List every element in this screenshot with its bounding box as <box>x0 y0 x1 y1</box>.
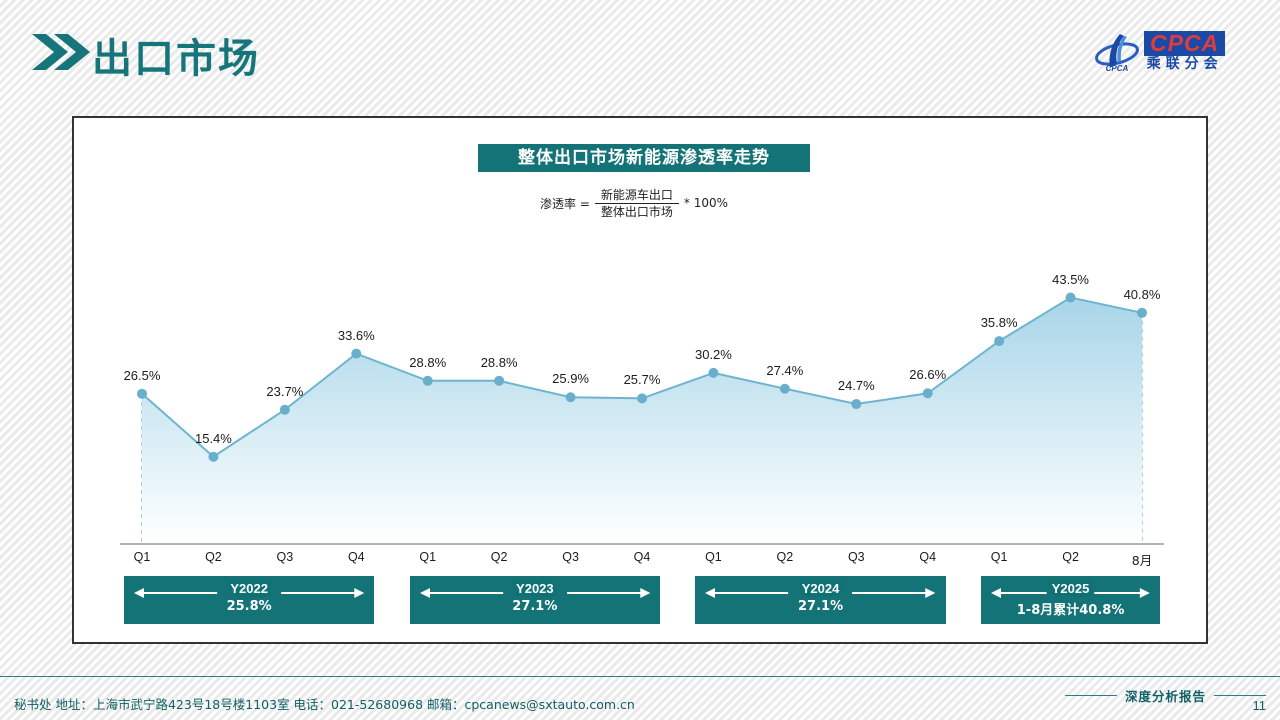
cpca-swoosh-icon: CPCA <box>1094 30 1140 74</box>
footer-report-tag-group: 深度分析报告 <box>1065 686 1266 705</box>
chart-svg <box>120 258 1164 578</box>
chart-x-tick: Q2 <box>777 550 794 564</box>
footer-line-right <box>1214 695 1266 696</box>
chart-area-fill <box>142 298 1142 545</box>
cpca-logo-text: CPCA 乘联分会 <box>1144 31 1225 73</box>
cpca-subtitle: 乘联分会 <box>1144 56 1225 73</box>
chart-x-tick: Q3 <box>848 550 865 564</box>
chart-value-label: 28.8% <box>409 355 446 370</box>
band-year-label: Y2023 <box>410 581 660 596</box>
chart-panel: 整体出口市场新能源渗透率走势 渗透率 = 新能源车出口 整体出口市场 * 100… <box>72 116 1208 644</box>
band-year-value: 25.8% <box>124 599 374 614</box>
chart-title-banner: 整体出口市场新能源渗透率走势 <box>478 144 810 172</box>
svg-text:CPCA: CPCA <box>1106 64 1129 73</box>
year-summary-band: Y20251-8月累计40.8% <box>981 576 1160 624</box>
footer-contact-info: 秘书处 地址：上海市武宁路423号18号楼1103室 电话：021-526809… <box>14 694 635 713</box>
penetration-rate-area-chart: 26.5%15.4%23.7%33.6%28.8%28.8%25.9%25.7%… <box>120 258 1164 578</box>
chart-value-label: 26.6% <box>909 367 946 382</box>
chart-value-label: 30.2% <box>695 347 732 362</box>
year-summary-band: Y202427.1% <box>695 576 945 624</box>
chart-x-tick: Q4 <box>919 550 936 564</box>
chart-data-point <box>637 393 647 403</box>
chart-value-label: 28.8% <box>481 355 518 370</box>
formula-denominator: 整体出口市场 <box>595 204 679 219</box>
chart-value-label: 27.4% <box>766 363 803 378</box>
chart-x-tick: Q1 <box>134 550 151 564</box>
penetration-rate-formula: 渗透率 = 新能源车出口 整体出口市场 * 100% <box>540 186 728 220</box>
formula-left-side: 渗透率 = <box>540 195 590 212</box>
formula-right-side: * 100% <box>684 196 728 210</box>
page-number: 11 <box>1253 698 1267 713</box>
footer-line-left <box>1065 695 1117 696</box>
chart-x-tick: Q4 <box>348 550 365 564</box>
chart-value-label: 35.8% <box>981 315 1018 330</box>
report-tag-label: 深度分析报告 <box>1125 686 1206 705</box>
chart-data-point <box>1066 293 1076 303</box>
chart-value-label: 25.9% <box>552 371 589 386</box>
band-year-label: Y2024 <box>695 581 945 596</box>
chart-value-label: 15.4% <box>195 431 232 446</box>
chart-x-tick: Q2 <box>491 550 508 564</box>
chart-data-point <box>994 336 1004 346</box>
chart-x-tick: Q1 <box>991 550 1008 564</box>
slide-header: 出口市场 CPCA CPCA 乘联分会 <box>0 0 1280 100</box>
chart-data-point <box>851 399 861 409</box>
chart-value-label: 24.7% <box>838 378 875 393</box>
chart-data-point <box>494 376 504 386</box>
chart-data-point <box>280 405 290 415</box>
chart-data-point <box>351 349 361 359</box>
chart-x-tick: 8月 <box>1132 550 1152 569</box>
chart-x-tick: Q1 <box>419 550 436 564</box>
chart-data-point <box>1137 308 1147 318</box>
formula-fraction: 新能源车出口 整体出口市场 <box>595 186 679 220</box>
chart-data-point <box>423 376 433 386</box>
chart-data-point <box>780 384 790 394</box>
band-year-label: Y2025 <box>981 581 1160 596</box>
chart-value-label: 43.5% <box>1052 272 1089 287</box>
chart-value-label: 33.6% <box>338 328 375 343</box>
band-year-label: Y2022 <box>124 581 374 596</box>
year-summary-band: Y202225.8% <box>124 576 374 624</box>
cpca-acronym: CPCA <box>1144 31 1225 56</box>
band-year-value: 27.1% <box>410 599 660 614</box>
year-summary-band: Y202327.1% <box>410 576 660 624</box>
chart-x-tick: Q4 <box>634 550 651 564</box>
chart-value-label: 26.5% <box>124 368 161 383</box>
band-year-value: 1-8月累计40.8% <box>981 599 1160 618</box>
chart-value-label: 40.8% <box>1124 287 1161 302</box>
chart-x-tick: Q1 <box>705 550 722 564</box>
footer-divider <box>0 676 1280 677</box>
chart-value-label: 23.7% <box>266 384 303 399</box>
chart-x-tick: Q2 <box>205 550 222 564</box>
chart-value-label: 25.7% <box>624 372 661 387</box>
page-title: 出口市场 <box>92 26 260 84</box>
chart-x-tick: Q3 <box>277 550 294 564</box>
chart-data-point <box>566 392 576 402</box>
formula-numerator: 新能源车出口 <box>595 188 679 204</box>
chart-data-point <box>708 368 718 378</box>
chart-x-tick: Q3 <box>562 550 579 564</box>
chart-x-tick: Q2 <box>1062 550 1079 564</box>
band-year-value: 27.1% <box>695 599 945 614</box>
slide-canvas: 出口市场 CPCA CPCA 乘联分会 整体出口市场新能源渗透率走势 渗透率 =… <box>0 0 1280 720</box>
cpca-logo: CPCA CPCA 乘联分会 <box>1094 28 1244 76</box>
chart-data-point <box>137 389 147 399</box>
chart-data-point <box>208 452 218 462</box>
double-chevron-right-icon <box>32 32 92 72</box>
chart-data-point <box>923 388 933 398</box>
